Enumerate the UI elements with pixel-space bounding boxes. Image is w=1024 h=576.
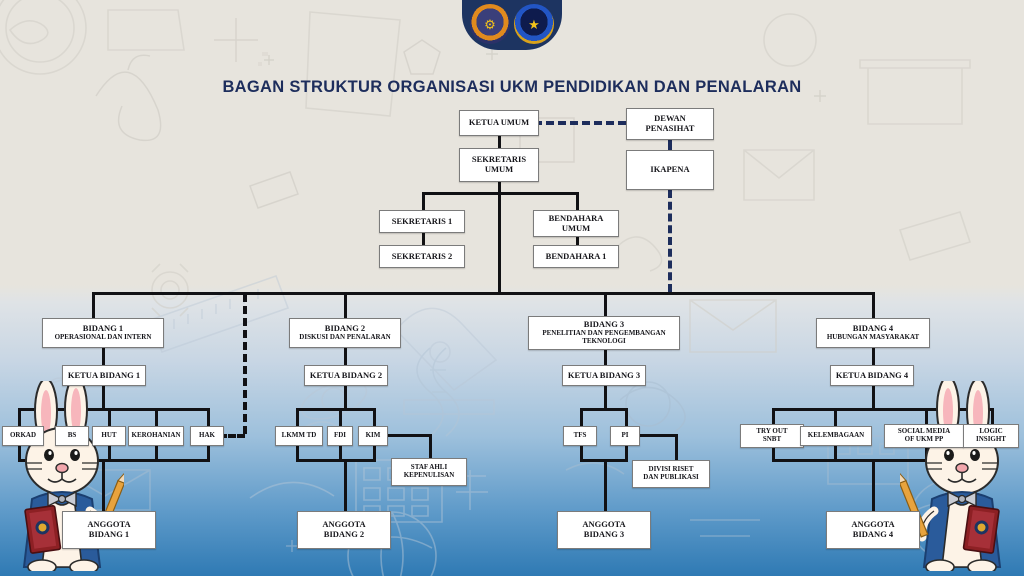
node-sekretaris-2[interactable]: SEKRETARIS 2: [379, 245, 465, 268]
bidang-3-subtitle: PENELITIAN DAN PENGEMBANGAN TEKNOLOGI: [542, 330, 665, 346]
organizational-chart-poster: ⚙ ★ BAGAN STRUKTUR ORGANISASI UKM PENDID…: [0, 0, 1024, 576]
connector-bar-to-bidang-2: [344, 292, 347, 318]
bidang-4-subtitle: HUBUNGAN MASYARAKAT: [827, 334, 919, 342]
connector-to-fdi: [339, 408, 342, 426]
node-try-out-snbt[interactable]: TRY OUT SNBT: [740, 424, 804, 448]
connector-head4-down: [872, 386, 875, 408]
node-ketua-umum[interactable]: KETUA UMUM: [459, 110, 539, 136]
node-ketua-bidang-3[interactable]: KETUA BIDANG 3: [562, 365, 646, 386]
node-anggota-bidang-4[interactable]: ANGGOTA BIDANG 4: [826, 511, 920, 549]
connector-bidang2-to-head: [344, 348, 347, 365]
node-bendahara-1[interactable]: BENDAHARA 1: [533, 245, 619, 268]
connector-pi-to-divisiriset: [638, 434, 678, 437]
connector-to-lkmmtd: [296, 408, 299, 426]
connector-bar-to-bidang-1: [92, 292, 95, 318]
connector-bidang4-to-head: [872, 348, 875, 365]
connector-to-bendahara-umum: [576, 192, 579, 210]
connector-bendahara-umum-to-1: [576, 237, 579, 245]
connector-bar-to-bidang-3: [604, 292, 607, 316]
node-hak[interactable]: HAK: [190, 426, 224, 446]
connector-to-kim: [373, 408, 376, 426]
university-emblem-left-icon: ⚙: [470, 4, 510, 44]
connector-head3-down: [604, 386, 607, 408]
node-anggota-bidang-3[interactable]: ANGGOTA BIDANG 3: [557, 511, 651, 549]
connector-to-hak: [207, 408, 210, 426]
connector-divisions-bar: [92, 292, 874, 295]
node-kelembagaan[interactable]: KELEMBAGAAN: [800, 426, 872, 446]
connector-stafahli-drop: [429, 434, 432, 458]
connector-bar-to-hak-dashed: [243, 294, 247, 434]
connector-to-pi: [625, 408, 628, 426]
connector-bidang3-to-head: [604, 350, 607, 365]
connector-ikapena-to-mainbar-dashed: [668, 190, 672, 292]
page-title: BAGAN STRUKTUR ORGANISASI UKM PENDIDIKAN…: [0, 78, 1024, 97]
connector-to-tfs: [580, 408, 583, 426]
node-bendahara-umum[interactable]: BENDAHARA UMUM: [533, 210, 619, 237]
connector-divisiriset-drop: [675, 434, 678, 460]
node-anggota-bidang-1[interactable]: ANGGOTA BIDANG 1: [62, 511, 156, 549]
connector-bidang2-units-bar: [296, 408, 376, 411]
connector-ketua-to-dewan-dashed: [534, 121, 626, 125]
node-ketua-bidang-4[interactable]: KETUA BIDANG 4: [830, 365, 914, 386]
connector-bidang1-to-head: [102, 348, 105, 365]
node-bidang-1[interactable]: BIDANG 1 OPERASIONAL DAN INTERN: [42, 318, 164, 348]
connector-to-sekretaris-1: [422, 192, 425, 210]
node-fdi[interactable]: FDI: [327, 426, 353, 446]
logo-banner: ⚙ ★: [462, 0, 562, 50]
node-staf-ahli-kepenulisan[interactable]: STAF AHLI KEPENULISAN: [391, 458, 467, 486]
node-sekretaris-umum[interactable]: SEKRETARIS UMUM: [459, 148, 539, 182]
connector-kim-to-stafahli: [386, 434, 432, 437]
connector-to-kelembagaan: [834, 408, 837, 426]
connector-bidang2-to-members: [344, 459, 347, 511]
node-hut[interactable]: HUT: [92, 426, 126, 446]
node-tfs[interactable]: TFS: [563, 426, 597, 446]
node-bs[interactable]: BS: [55, 426, 89, 446]
node-bidang-2[interactable]: BIDANG 2 DISKUSI DAN PENALARAN: [289, 318, 401, 348]
node-logic-insight[interactable]: LOGIC INSIGHT: [963, 424, 1019, 448]
connector-bidang3-units-bar: [580, 408, 628, 411]
node-bidang-4[interactable]: BIDANG 4 HUBUNGAN MASYARAKAT: [816, 318, 930, 348]
node-divisi-riset-dan-publikasi[interactable]: DIVISI RISET DAN PUBLIKASI: [632, 460, 710, 488]
node-ketua-bidang-2[interactable]: KETUA BIDANG 2: [304, 365, 388, 386]
connector-bidang4-to-members: [872, 459, 875, 511]
node-lkmm-td[interactable]: LKMM TD: [275, 426, 323, 446]
connector-bidang2-units-bottom-bar: [296, 459, 376, 462]
node-social-media-of-ukm-pp[interactable]: SOCIAL MEDIA OF UKM PP: [884, 424, 964, 448]
node-kerohanian[interactable]: KEROHANIAN: [128, 426, 184, 446]
node-dewan-penasihat[interactable]: DEWAN PENASIHAT: [626, 108, 714, 140]
node-pi[interactable]: PI: [610, 426, 640, 446]
bidang-2-subtitle: DISKUSI DAN PENALARAN: [299, 334, 390, 342]
node-anggota-bidang-2[interactable]: ANGGOTA BIDANG 2: [297, 511, 391, 549]
node-ikapena[interactable]: IKAPENA: [626, 150, 714, 190]
node-sekretaris-1[interactable]: SEKRETARIS 1: [379, 210, 465, 233]
node-ketua-bidang-1[interactable]: KETUA BIDANG 1: [62, 365, 146, 386]
connector-bidang3-to-members: [604, 459, 607, 511]
emblem-right-mark: ★: [528, 18, 540, 31]
emblem-left-mark: ⚙: [484, 18, 496, 31]
connector-head2-down: [344, 386, 347, 408]
connector-to-kerohanian: [155, 408, 158, 426]
connector-main-trunk: [498, 192, 501, 292]
bidang-1-subtitle: OPERASIONAL DAN INTERN: [55, 334, 152, 342]
node-orkad[interactable]: ORKAD: [2, 426, 44, 446]
node-kim[interactable]: KIM: [358, 426, 388, 446]
connector-sekretaris1-to-2: [422, 233, 425, 245]
university-emblem-right-icon: ★: [514, 4, 554, 44]
node-bidang-3[interactable]: BIDANG 3 PENELITIAN DAN PENGEMBANGAN TEK…: [528, 316, 680, 350]
connector-bar-to-bidang-4: [872, 292, 875, 318]
